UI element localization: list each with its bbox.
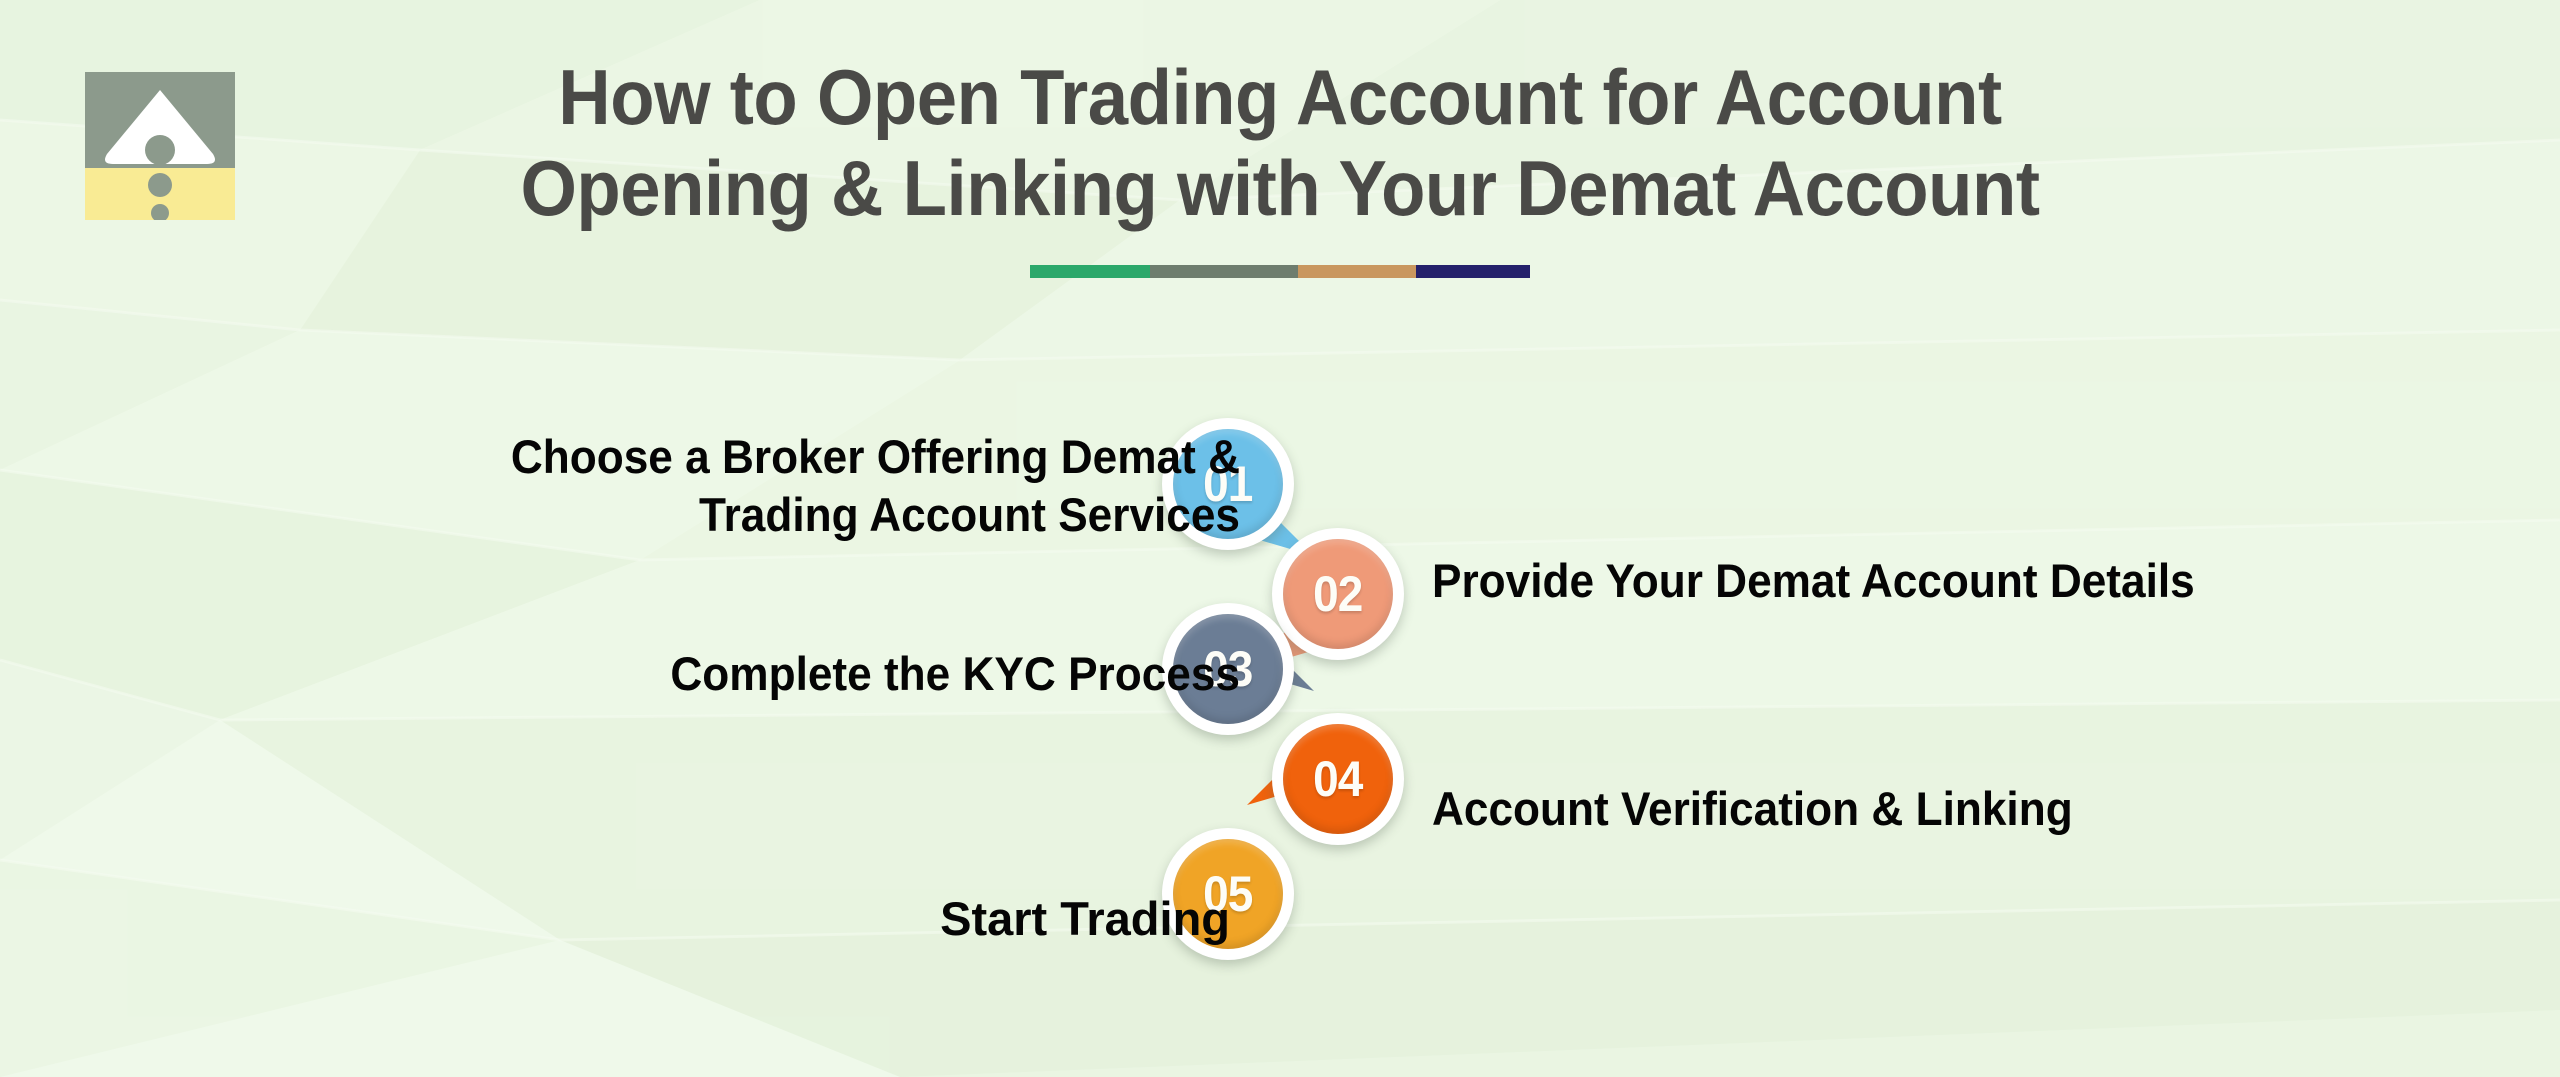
step-label-04: Account Verification & Linking [1432,780,2428,838]
step-label-01-line1: Choose a Broker Offering Demat & [375,428,1240,486]
step-label-03: Complete the KYC Process [375,645,1240,703]
step-node-02[interactable]: 02 [1272,528,1404,660]
step-label-02: Provide Your Demat Account Details [1432,552,2428,610]
step-disc-04: 04 [1283,724,1393,834]
step-disc-02: 02 [1283,539,1393,649]
step-label-05: Start Trading [310,890,1230,948]
step-number-04: 04 [1313,754,1362,804]
step-number-02: 02 [1313,569,1362,619]
step-label-01-line2: Trading Account Services [375,486,1240,544]
step-node-04[interactable]: 04 [1272,713,1404,845]
step-label-01: Choose a Broker Offering Demat & Trading… [375,428,1240,545]
steps-flow: 01 Choose a Broker Offering Demat & Trad… [0,0,2560,1077]
